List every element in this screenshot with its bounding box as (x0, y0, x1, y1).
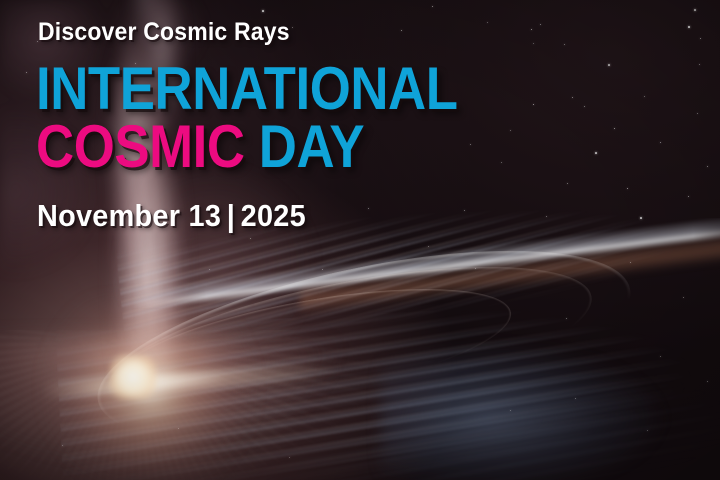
poster-headline-line-1: INTERNATIONAL (36, 61, 458, 116)
headline-word-day: DAY (259, 113, 364, 180)
kicker-text: Discover Cosmic Rays (38, 18, 290, 46)
poster-headline-line-2: COSMIC DAY (36, 119, 458, 174)
date-year: 2025 (241, 198, 306, 233)
cosmic-day-poster: Discover Cosmic Rays INTERNATIONAL COSMI… (0, 0, 720, 480)
headline-word-cosmic: COSMIC (36, 113, 245, 180)
poster-kicker: Discover Cosmic Rays (38, 20, 477, 45)
date-month-day: November 13 (37, 198, 221, 233)
poster-text-block: Discover Cosmic Rays INTERNATIONAL COSMI… (36, 20, 515, 231)
date-separator: | (227, 198, 235, 233)
poster-date-line: November 13|2025 (37, 200, 482, 231)
headline-word-international: INTERNATIONAL (36, 55, 458, 122)
